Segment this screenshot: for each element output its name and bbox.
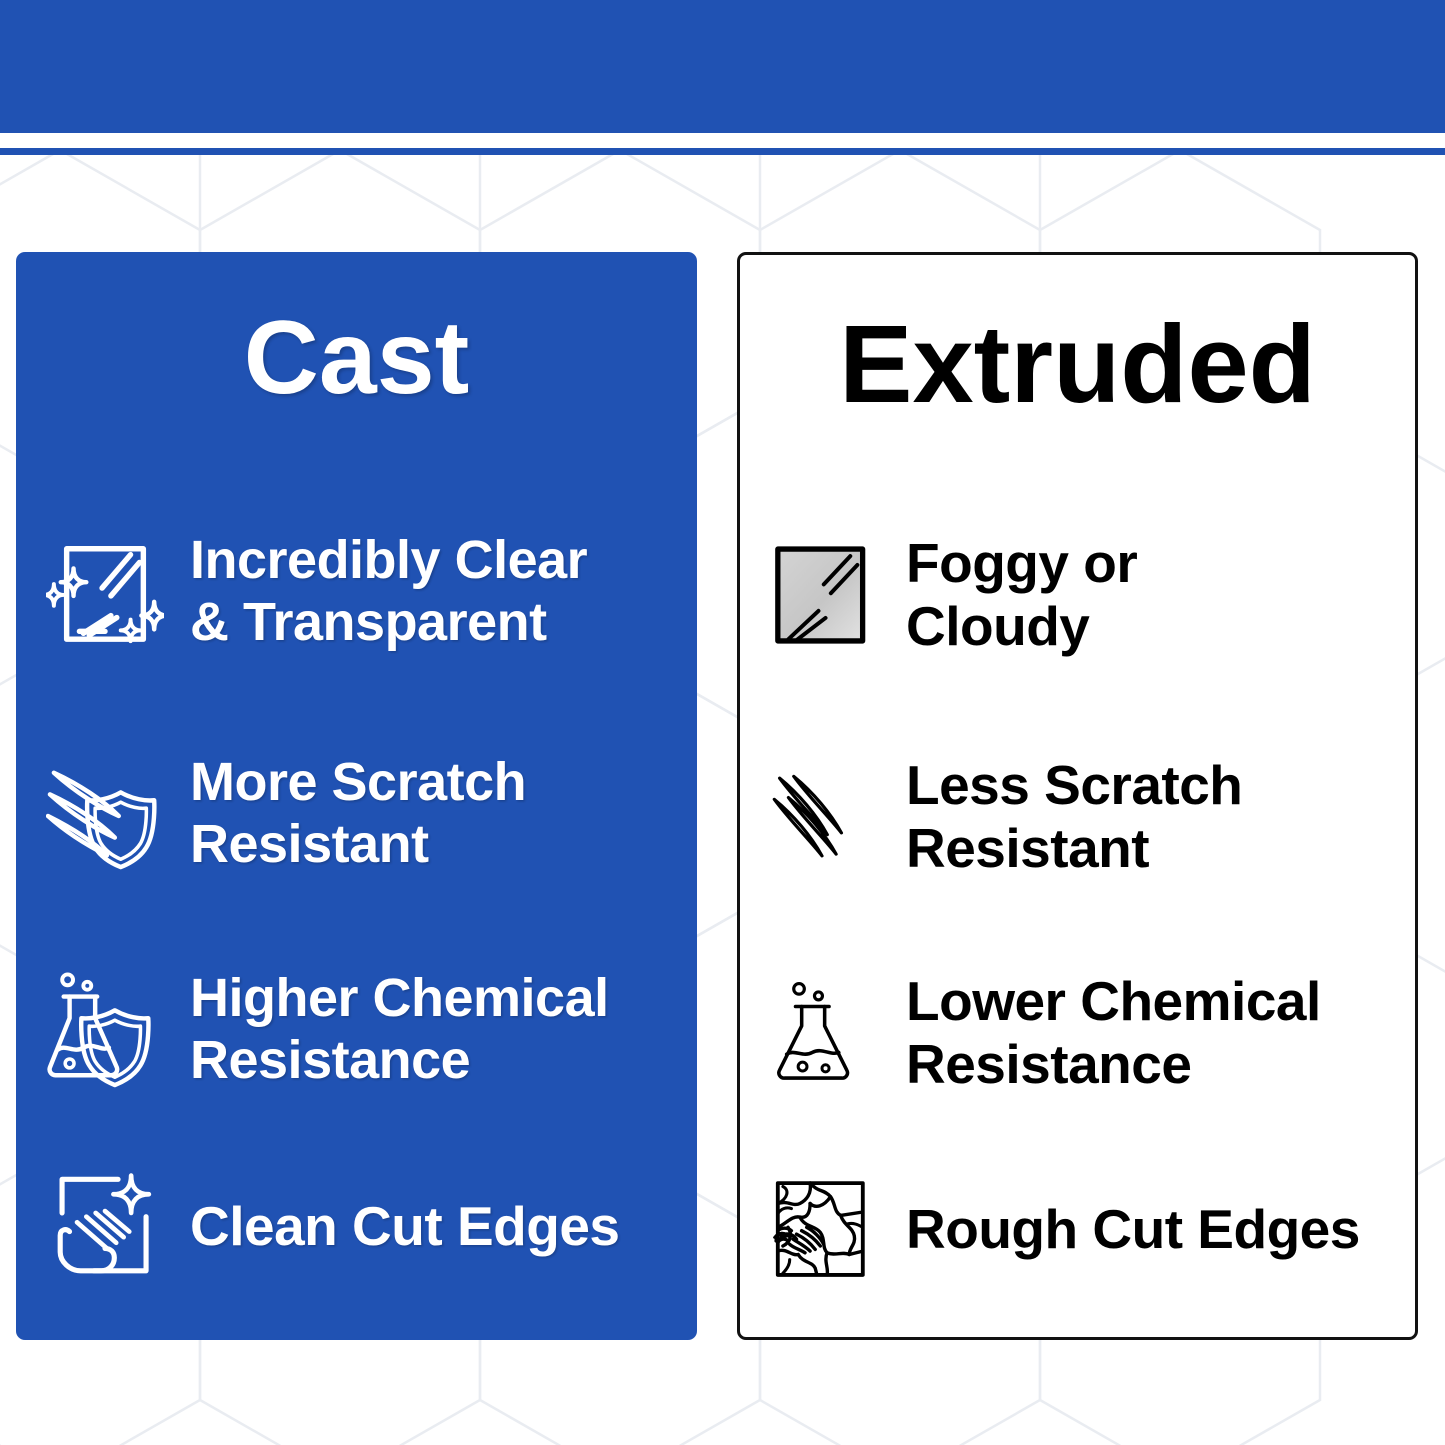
feature-label-foggy-line1: Foggy or — [906, 532, 1415, 595]
feature-label-chemical-line2: Resistance — [190, 1030, 697, 1092]
feature-row-cut-edges: Clean Cut Edges — [16, 1151, 697, 1301]
feature-row-chemical: Higher Chemical Resistance — [16, 935, 697, 1125]
panel-cast-heading: Cast — [16, 304, 697, 413]
feature-label-lower-chemical: Lower Chemical Resistance — [906, 970, 1415, 1095]
feature-label-lower-chemical-line2: Resistance — [906, 1033, 1415, 1096]
clear-glass-sparkle-icon — [44, 531, 166, 653]
foggy-glass-icon — [766, 539, 878, 651]
feature-label-cut-edges: Clean Cut Edges — [190, 1195, 697, 1258]
panel-cast-feature-list: Incredibly Clear & Transparent More — [16, 497, 697, 1337]
panel-extruded-feature-list: Foggy or Cloudy Less Scratch Resistant — [740, 500, 1415, 1340]
infographic-page: Cast Acrylic Benefits Cast — [0, 0, 1445, 1445]
feature-label-rough-cut-edges: Rough Cut Edges — [906, 1198, 1415, 1261]
feature-label-foggy-line2: Cloudy — [906, 595, 1415, 658]
feature-label-scratch: More Scratch Resistant — [190, 752, 697, 875]
feature-row-rough-cut-edges: Rough Cut Edges — [740, 1154, 1415, 1304]
feature-row-clear: Incredibly Clear & Transparent — [16, 497, 697, 687]
feature-row-lower-chemical: Lower Chemical Resistance — [740, 938, 1415, 1128]
feature-label-clear: Incredibly Clear & Transparent — [190, 530, 697, 653]
feature-label-clear-line1: Incredibly Clear — [190, 530, 697, 592]
feature-row-scratch: More Scratch Resistant — [16, 719, 697, 909]
feature-label-chemical-line1: Higher Chemical — [190, 968, 697, 1030]
feature-label-scratch-line1: More Scratch — [190, 752, 697, 814]
feature-label-chemical: Higher Chemical Resistance — [190, 968, 697, 1091]
feature-label-lower-chemical-line1: Lower Chemical — [906, 970, 1415, 1033]
feature-label-clear-line2: & Transparent — [190, 592, 697, 654]
feature-label-scratch-line2: Resistant — [190, 814, 697, 876]
header-bar — [0, 0, 1445, 133]
feature-label-less-scratch-line2: Resistant — [906, 817, 1415, 880]
flask-icon — [766, 977, 878, 1089]
feature-label-rough-cut-edges-line1: Rough Cut Edges — [906, 1198, 1415, 1261]
feature-label-less-scratch-line1: Less Scratch — [906, 754, 1415, 817]
feature-label-foggy: Foggy or Cloudy — [906, 532, 1415, 657]
feature-row-less-scratch: Less Scratch Resistant — [740, 722, 1415, 912]
feature-label-cut-edges-line1: Clean Cut Edges — [190, 1195, 697, 1258]
clean-cut-edge-icon — [44, 1165, 166, 1287]
panel-cast: Cast — [16, 252, 697, 1340]
flask-shield-icon — [44, 969, 166, 1091]
feature-label-less-scratch: Less Scratch Resistant — [906, 754, 1415, 879]
panel-extruded: Extruded — [737, 252, 1418, 1340]
header-divider-rule — [0, 148, 1445, 155]
scratch-shield-icon — [44, 753, 166, 875]
rough-cut-edge-icon — [766, 1173, 878, 1285]
scratch-marks-icon — [766, 761, 878, 873]
panel-extruded-heading: Extruded — [740, 307, 1415, 423]
feature-row-foggy: Foggy or Cloudy — [740, 500, 1415, 690]
